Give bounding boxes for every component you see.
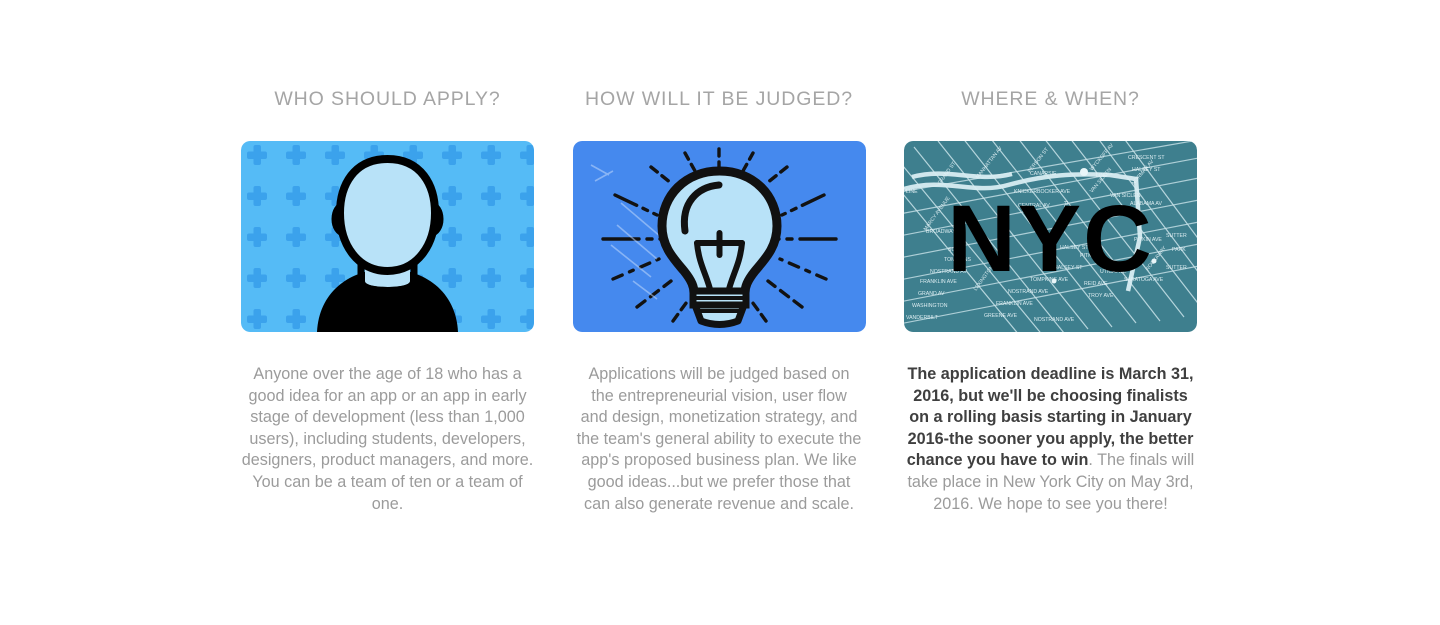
column-heading-where-and-when: WHERE & WHEN? xyxy=(961,85,1140,113)
svg-text:FRANKLIN AVE: FRANKLIN AVE xyxy=(996,301,1033,307)
nyc-overlay-text: NYC xyxy=(947,186,1154,292)
person-silhouette-illustration xyxy=(241,141,534,332)
person-silhouette-svg xyxy=(241,141,534,332)
column-who-should-apply: WHO SHOULD APPLY? xyxy=(241,85,534,531)
svg-text:TROY AVE: TROY AVE xyxy=(1088,293,1114,299)
svg-text:SUTTER: SUTTER xyxy=(1166,233,1187,239)
column-body-who-should-apply: Anyone over the age of 18 who has a good… xyxy=(240,364,535,515)
column-heading-how-will-it-be-judged: HOW WILL IT BE JUDGED? xyxy=(585,85,853,113)
column-body-how-will-it-be-judged: Applications will be judged based on the… xyxy=(576,364,863,515)
lightbulb-illustration xyxy=(573,141,866,332)
svg-text:PARK: PARK xyxy=(1172,247,1186,253)
column-heading-who-should-apply: WHO SHOULD APPLY? xyxy=(274,85,500,113)
nyc-map-illustration: LINE GRAND ST MARCY AVENUE PERSON ST MAN… xyxy=(904,141,1197,332)
svg-text:VANDERBILT: VANDERBILT xyxy=(906,315,939,321)
svg-text:GREENE AVE: GREENE AVE xyxy=(984,313,1018,319)
feature-columns: WHO SHOULD APPLY? xyxy=(241,85,1197,531)
svg-text:NOSTRAND AVE: NOSTRAND AVE xyxy=(1034,317,1075,323)
svg-text:SUTTER: SUTTER xyxy=(1166,265,1187,271)
svg-text:LINE: LINE xyxy=(906,189,918,195)
column-where-and-when: WHERE & WHEN? xyxy=(904,85,1197,531)
svg-text:CANARSIE: CANARSIE xyxy=(1030,171,1057,177)
svg-text:CRESCENT ST: CRESCENT ST xyxy=(1128,155,1165,161)
page-root: WHO SHOULD APPLY? xyxy=(0,0,1440,625)
nyc-map-svg: LINE GRAND ST MARCY AVENUE PERSON ST MAN… xyxy=(904,141,1197,332)
lightbulb-svg xyxy=(573,141,866,332)
svg-text:WASHINGTON: WASHINGTON xyxy=(912,303,948,309)
column-body-where-and-when: The application deadline is March 31, 20… xyxy=(904,364,1197,515)
column-how-will-it-be-judged: HOW WILL IT BE JUDGED? xyxy=(573,85,866,531)
svg-text:GRAND AV: GRAND AV xyxy=(918,291,945,297)
